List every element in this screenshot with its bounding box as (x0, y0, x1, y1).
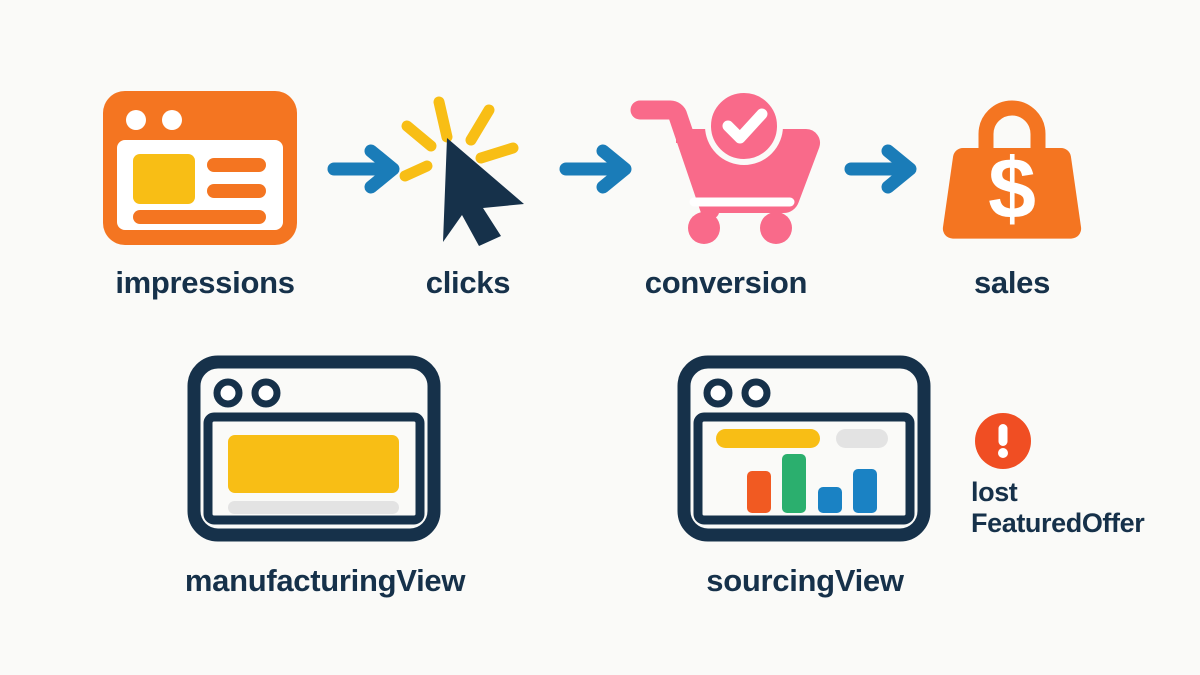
funnel-step-sales[interactable]: $ (941, 96, 1083, 242)
view-label-sourcing: sourcingView (685, 563, 925, 599)
arrow-right-icon (848, 145, 918, 193)
view-sourcing[interactable] (678, 356, 930, 541)
browser-window-ad-icon (100, 88, 300, 248)
funnel-step-conversion[interactable] (634, 92, 819, 244)
browser-window-banner-icon (188, 356, 440, 541)
browser-window-chart-icon (678, 356, 930, 541)
arrow-clicks-to-conversion (563, 145, 633, 193)
arrow-right-icon (331, 145, 401, 193)
mouse-cursor-click-icon (403, 90, 533, 235)
view-manufacturing[interactable] (188, 356, 440, 541)
funnel-label-sales: sales (941, 265, 1083, 301)
alert-text-line2: FeaturedOffer (971, 508, 1144, 539)
alert-lost-featured-offer[interactable] (973, 411, 1033, 471)
shopping-bag-dollar-icon: $ (941, 96, 1083, 242)
funnel-label-impressions: impressions (100, 265, 310, 301)
funnel-label-conversion: conversion (620, 265, 832, 301)
shopping-cart-check-icon (634, 92, 819, 244)
arrow-right-icon (563, 145, 633, 193)
exclamation-circle-icon (973, 411, 1033, 471)
svg-text:$: $ (988, 141, 1036, 237)
funnel-step-clicks[interactable] (403, 90, 533, 235)
alert-text-line1: lost (971, 477, 1017, 508)
funnel-label-clicks: clicks (403, 265, 533, 301)
diagram-canvas: impressions clicks (0, 0, 1200, 675)
arrow-impressions-to-clicks (331, 145, 401, 193)
arrow-conversion-to-sales (848, 145, 918, 193)
view-label-manufacturing: manufacturingView (155, 563, 495, 599)
funnel-step-impressions[interactable] (100, 88, 300, 248)
